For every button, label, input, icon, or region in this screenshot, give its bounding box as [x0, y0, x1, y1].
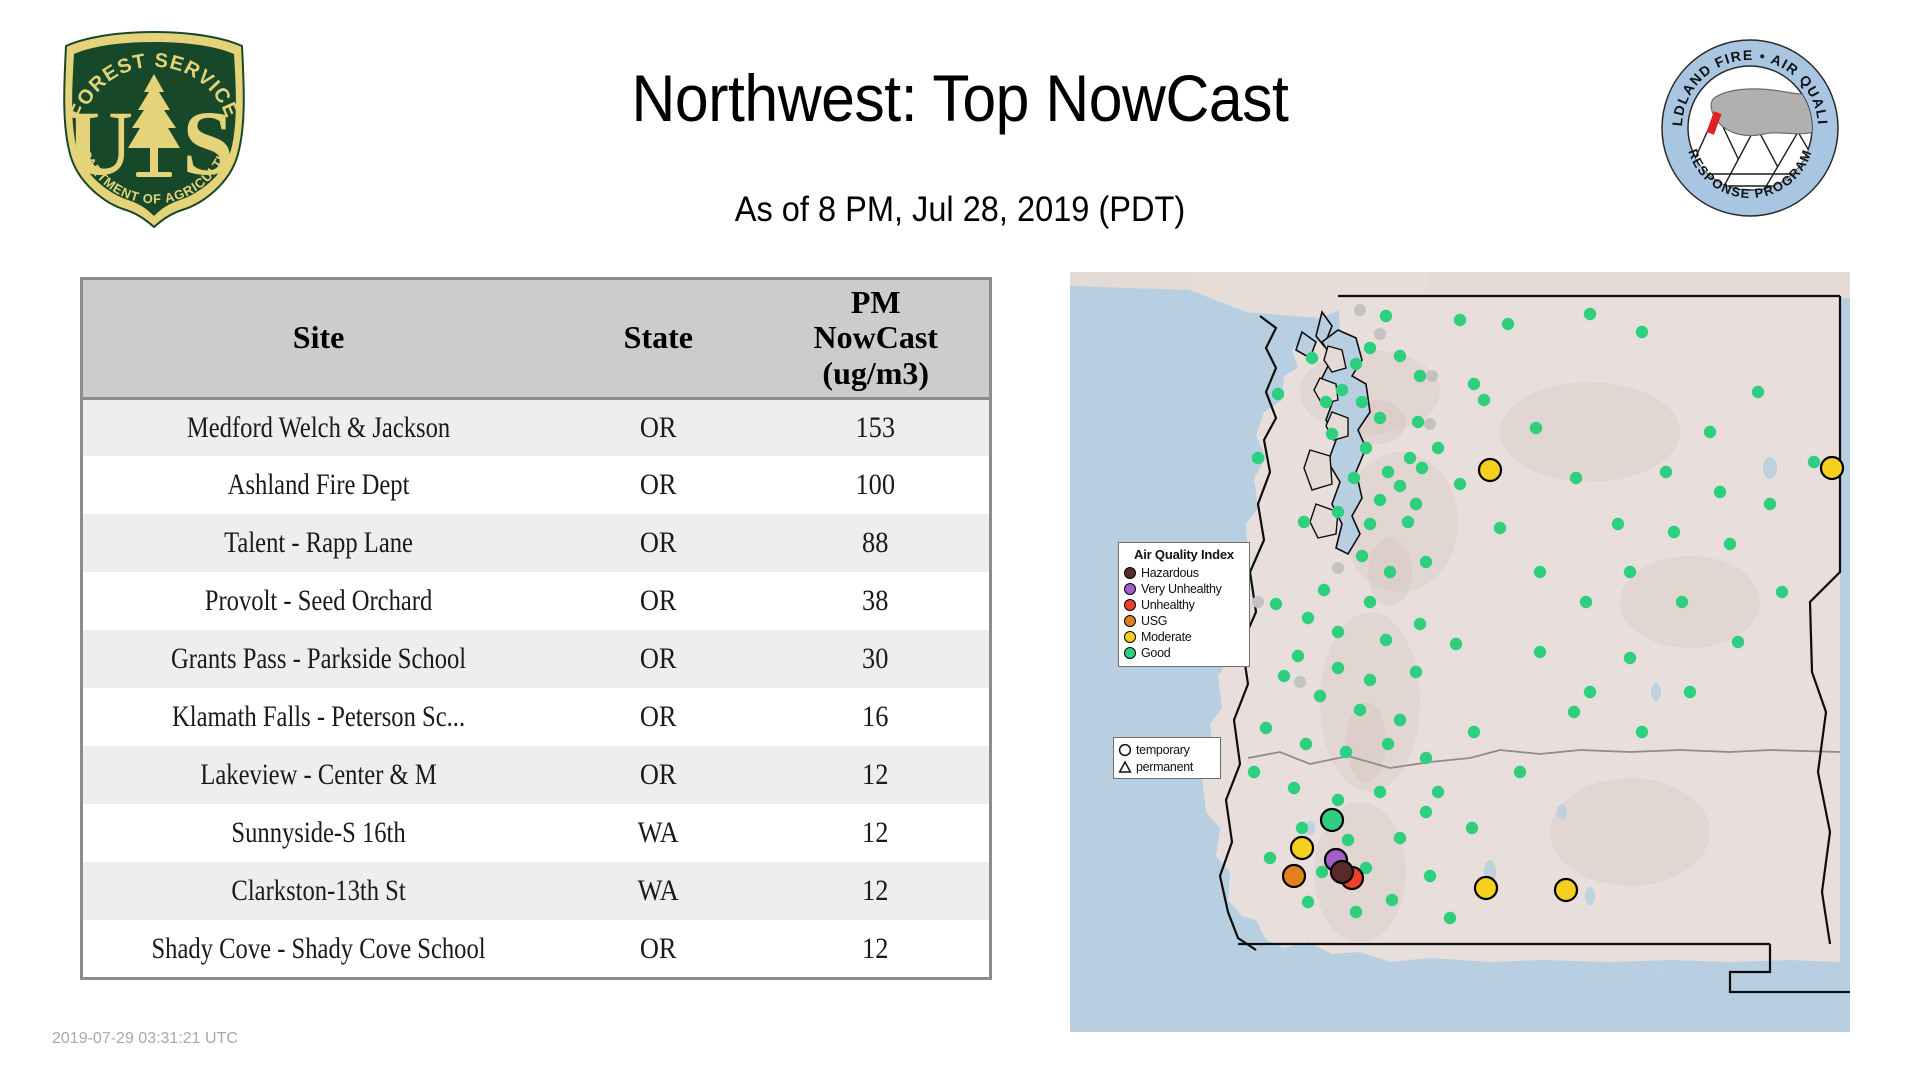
monitor-dot-good[interactable]	[1394, 714, 1406, 726]
aqi-legend-label: USG	[1141, 614, 1167, 628]
monitor-dot-good[interactable]	[1534, 646, 1546, 658]
monitor-dot-good[interactable]	[1714, 486, 1726, 498]
monitor-dot-moderate[interactable]	[1479, 459, 1501, 481]
circle-marker-icon	[1118, 743, 1132, 757]
table-row: Lakeview - Center & MOR12	[83, 746, 989, 804]
table-row: Clarkston-13th StWA12	[83, 862, 989, 920]
monitor-dot-good[interactable]	[1570, 472, 1582, 484]
cell-site: Ashland Fire Dept	[125, 456, 511, 514]
monitor-dot-good[interactable]	[1320, 396, 1332, 408]
monitor-dot-good[interactable]	[1374, 786, 1386, 798]
monitor-dot-offline[interactable]	[1374, 328, 1386, 340]
triangle-marker-icon	[1118, 760, 1132, 774]
table-header-row: Site State PM NowCast (ug/m3)	[83, 280, 989, 398]
cell-state: WA	[567, 862, 750, 920]
pm-header-line-3: (ug/m3)	[762, 356, 989, 392]
monitor-dot-good[interactable]	[1386, 894, 1398, 906]
monitor-dot-good[interactable]	[1534, 566, 1546, 578]
aqi-legend-item: USG	[1124, 613, 1244, 629]
cell-pm-value: 12	[776, 862, 975, 920]
monitor-dot-good[interactable]	[1424, 870, 1436, 882]
monitor-dot-good[interactable]	[1360, 442, 1372, 454]
table-row: Ashland Fire DeptOR100	[83, 456, 989, 514]
monitor-dot-good[interactable]	[1264, 852, 1276, 864]
monitor-dot-offline[interactable]	[1426, 370, 1438, 382]
monitor-dot-good[interactable]	[1332, 506, 1344, 518]
monitor-dot-good[interactable]	[1348, 472, 1360, 484]
monitor-dot-good[interactable]	[1454, 478, 1466, 490]
monitor-type-legend: temporary permanent	[1113, 737, 1221, 779]
aqi-legend-item: Hazardous	[1124, 565, 1244, 581]
column-header-site: Site	[83, 280, 554, 398]
aqi-legend-item: Unhealthy	[1124, 597, 1244, 613]
us-forest-service-logo: FOREST SERVICE U S DEPARTMENT OF AGRICUL…	[52, 28, 257, 228]
cell-pm-value: 153	[776, 398, 975, 456]
monitor-dot-good[interactable]	[1478, 394, 1490, 406]
monitor-dot-good[interactable]	[1502, 318, 1514, 330]
cell-pm-value: 88	[776, 514, 975, 572]
monitor-dot-good[interactable]	[1584, 686, 1596, 698]
monitor-dot-offline[interactable]	[1354, 304, 1366, 316]
page-subtitle: As of 8 PM, Jul 28, 2019 (PDT)	[309, 190, 1611, 230]
aqi-color-swatch-icon	[1124, 647, 1136, 659]
monitor-dot-good[interactable]	[1314, 690, 1326, 702]
cell-pm-value: 12	[776, 920, 975, 978]
monitor-dot-good[interactable]	[1420, 806, 1432, 818]
pm-header-line-2: NowCast	[762, 320, 989, 356]
monitor-dot-good[interactable]	[1380, 310, 1392, 322]
aqi-legend-title: Air Quality Index	[1124, 547, 1244, 562]
monitor-dot-good[interactable]	[1332, 794, 1344, 806]
cell-pm-value: 100	[776, 456, 975, 514]
monitor-dot-good[interactable]	[1384, 566, 1396, 578]
wildland-fire-air-quality-logo: WILDLAND FIRE • AIR QUALITY RESPONSE PRO…	[1660, 38, 1840, 218]
monitor-dot-moderate[interactable]	[1821, 457, 1843, 479]
monitor-dot-good[interactable]	[1402, 516, 1414, 528]
monitor-dot-good[interactable]	[1364, 342, 1376, 354]
cell-state: WA	[567, 804, 750, 862]
monitor-dot-good[interactable]	[1302, 612, 1314, 624]
aqi-color-swatch-icon	[1124, 583, 1136, 595]
monitor-dot-good[interactable]	[1380, 634, 1392, 646]
monitor-dot-good[interactable]	[1382, 738, 1394, 750]
monitor-dot-good[interactable]	[1278, 670, 1290, 682]
monitor-dot-good[interactable]	[1660, 466, 1672, 478]
monitor-dot-good[interactable]	[1568, 706, 1580, 718]
cell-state: OR	[567, 630, 750, 688]
monitor-dot-good[interactable]	[1412, 416, 1424, 428]
monitor-dot-offline[interactable]	[1424, 418, 1436, 430]
monitor-dot-good[interactable]	[1382, 466, 1394, 478]
monitor-dot-good[interactable]	[1414, 618, 1426, 630]
monitor-dot-good[interactable]	[1394, 480, 1406, 492]
aqi-legend-item: Good	[1124, 645, 1244, 661]
table-row: Medford Welch & JacksonOR153	[83, 398, 989, 456]
monitor-dot-good[interactable]	[1300, 738, 1312, 750]
monitor-dot-good[interactable]	[1354, 704, 1366, 716]
table-row: Provolt - Seed OrchardOR38	[83, 572, 989, 630]
monitor-dot-good[interactable]	[1584, 308, 1596, 320]
monitor-dot-good[interactable]	[1288, 782, 1300, 794]
monitor-dot-hazardous[interactable]	[1331, 861, 1353, 883]
monitor-dot-offline[interactable]	[1332, 562, 1344, 574]
cell-state: OR	[567, 572, 750, 630]
monitor-dot-offline[interactable]	[1252, 596, 1264, 608]
monitor-dot-good[interactable]	[1454, 314, 1466, 326]
aqi-legend-label: Unhealthy	[1141, 598, 1195, 612]
monitor-dot-good[interactable]	[1260, 722, 1272, 734]
cell-pm-value: 12	[776, 804, 975, 862]
pm-header-line-1: PM	[762, 285, 989, 321]
cell-pm-value: 30	[776, 630, 975, 688]
cell-state: OR	[567, 688, 750, 746]
monitor-dot-good[interactable]	[1624, 652, 1636, 664]
aqi-legend-item: Moderate	[1124, 629, 1244, 645]
aqi-legend: Air Quality Index HazardousVery Unhealth…	[1118, 542, 1250, 667]
monitor-dot-good[interactable]	[1332, 662, 1344, 674]
monitor-dot-good[interactable]	[1374, 412, 1386, 424]
monitor-dot-good[interactable]	[1636, 326, 1648, 338]
monitor-dot-good[interactable]	[1318, 584, 1330, 596]
table-row: Sunnyside-S 16thWA12	[83, 804, 989, 862]
aqi-legend-label: Good	[1141, 646, 1170, 660]
cell-site: Lakeview - Center & M	[125, 746, 511, 804]
cell-state: OR	[567, 398, 750, 456]
aqi-color-swatch-icon	[1124, 567, 1136, 579]
monitor-dot-good[interactable]	[1676, 596, 1688, 608]
cell-site: Provolt - Seed Orchard	[125, 572, 511, 630]
monitor-dot-good[interactable]	[1416, 462, 1428, 474]
monitor-dot-good[interactable]	[1350, 906, 1362, 918]
column-header-pm-nowcast: PM NowCast (ug/m3)	[762, 280, 989, 398]
cell-site: Grants Pass - Parkside School	[125, 630, 511, 688]
monitor-dot-good[interactable]	[1356, 396, 1368, 408]
monitor-dot-usg[interactable]	[1283, 865, 1305, 887]
generation-timestamp: 2019-07-29 03:31:21 UTC	[52, 1030, 238, 1048]
monitor-dot-good[interactable]	[1732, 636, 1744, 648]
monitor-dot-good[interactable]	[1704, 426, 1716, 438]
aqi-legend-item: Very Unhealthy	[1124, 581, 1244, 597]
monitor-dot-good[interactable]	[1444, 912, 1456, 924]
monitor-dot-good[interactable]	[1321, 809, 1343, 831]
monitor-dot-good[interactable]	[1724, 538, 1736, 550]
monitor-dot-good[interactable]	[1404, 452, 1416, 464]
top-nowcast-table: Site State PM NowCast (ug/m3) Medford We…	[80, 277, 992, 980]
legend-permanent: permanent	[1118, 758, 1216, 775]
monitor-dot-good[interactable]	[1342, 834, 1354, 846]
monitor-dot-good[interactable]	[1298, 516, 1310, 528]
cell-state: OR	[567, 920, 750, 978]
cell-site: Shady Cove - Shady Cove School	[125, 920, 511, 978]
monitor-dot-good[interactable]	[1340, 746, 1352, 758]
monitor-dot-good[interactable]	[1624, 566, 1636, 578]
monitor-dot-good[interactable]	[1364, 596, 1376, 608]
monitor-dot-good[interactable]	[1394, 832, 1406, 844]
cell-site: Sunnyside-S 16th	[125, 804, 511, 862]
aqi-legend-label: Hazardous	[1141, 566, 1199, 580]
monitor-dot-good[interactable]	[1302, 896, 1314, 908]
monitor-dot-good[interactable]	[1296, 822, 1308, 834]
monitor-dot-good[interactable]	[1808, 456, 1820, 468]
monitor-dot-good[interactable]	[1514, 766, 1526, 778]
monitor-dot-good[interactable]	[1326, 428, 1338, 440]
monitor-dot-good[interactable]	[1752, 386, 1764, 398]
monitor-dot-good[interactable]	[1764, 498, 1776, 510]
cell-site: Clarkston-13th St	[125, 862, 511, 920]
cell-state: OR	[567, 514, 750, 572]
monitor-dot-offline[interactable]	[1294, 676, 1306, 688]
monitor-dot-good[interactable]	[1252, 452, 1264, 464]
cell-pm-value: 38	[776, 572, 975, 630]
monitor-dot-good[interactable]	[1336, 384, 1348, 396]
monitor-dot-good[interactable]	[1410, 666, 1422, 678]
monitor-dot-good[interactable]	[1468, 378, 1480, 390]
cell-pm-value: 16	[776, 688, 975, 746]
monitor-dot-good[interactable]	[1248, 766, 1260, 778]
cell-site: Medford Welch & Jackson	[125, 398, 511, 456]
table-row: Talent - Rapp LaneOR88	[83, 514, 989, 572]
cell-state: OR	[567, 456, 750, 514]
aqi-color-swatch-icon	[1124, 615, 1136, 627]
table-body: Medford Welch & JacksonOR153Ashland Fire…	[83, 398, 989, 978]
monitor-dot-good[interactable]	[1350, 358, 1362, 370]
monitor-dot-good[interactable]	[1332, 626, 1344, 638]
monitor-dot-good[interactable]	[1270, 598, 1282, 610]
monitor-dot-good[interactable]	[1776, 586, 1788, 598]
cell-state: OR	[567, 746, 750, 804]
column-header-state: State	[554, 280, 762, 398]
monitor-dot-good[interactable]	[1466, 822, 1478, 834]
monitor-dot-moderate[interactable]	[1555, 879, 1577, 901]
aqi-monitor-map[interactable]: Air Quality Index HazardousVery Unhealth…	[1070, 272, 1850, 1032]
aqi-color-swatch-icon	[1124, 599, 1136, 611]
monitor-dot-good[interactable]	[1306, 352, 1318, 364]
table-row: Grants Pass - Parkside SchoolOR30	[83, 630, 989, 688]
slide-root: FOREST SERVICE U S DEPARTMENT OF AGRICUL…	[0, 0, 1920, 1080]
monitor-dot-good[interactable]	[1450, 638, 1462, 650]
monitor-dot-good[interactable]	[1530, 422, 1542, 434]
monitor-dot-good[interactable]	[1364, 674, 1376, 686]
monitor-dot-good[interactable]	[1356, 550, 1368, 562]
monitor-dot-good[interactable]	[1432, 442, 1444, 454]
cell-site: Klamath Falls - Peterson Sc...	[125, 688, 511, 746]
monitor-dot-good[interactable]	[1374, 494, 1386, 506]
monitor-dot-good[interactable]	[1292, 650, 1304, 662]
monitor-dot-good[interactable]	[1272, 388, 1284, 400]
table-row: Shady Cove - Shady Cove SchoolOR12	[83, 920, 989, 978]
legend-temporary: temporary	[1118, 741, 1216, 758]
monitor-dot-good[interactable]	[1410, 498, 1422, 510]
aqi-color-swatch-icon	[1124, 631, 1136, 643]
cell-site: Talent - Rapp Lane	[125, 514, 511, 572]
monitor-dot-good[interactable]	[1364, 518, 1376, 530]
page-title: Northwest: Top NowCast	[316, 60, 1604, 136]
monitor-dot-good[interactable]	[1414, 370, 1426, 382]
monitor-dot-good[interactable]	[1420, 752, 1432, 764]
monitor-dot-good[interactable]	[1580, 596, 1592, 608]
monitor-dot-good[interactable]	[1612, 518, 1624, 530]
monitor-dot-good[interactable]	[1494, 522, 1506, 534]
monitor-dot-good[interactable]	[1394, 350, 1406, 362]
monitor-dot-good[interactable]	[1668, 526, 1680, 538]
monitor-dot-good[interactable]	[1468, 726, 1480, 738]
monitor-dot-good[interactable]	[1636, 726, 1648, 738]
monitor-dot-good[interactable]	[1432, 786, 1444, 798]
legend-temporary-label: temporary	[1136, 743, 1190, 757]
monitor-dot-moderate[interactable]	[1475, 877, 1497, 899]
aqi-legend-label: Very Unhealthy	[1141, 582, 1222, 596]
table-row: Klamath Falls - Peterson Sc...OR16	[83, 688, 989, 746]
monitor-dot-good[interactable]	[1316, 866, 1328, 878]
aqi-legend-label: Moderate	[1141, 630, 1191, 644]
monitor-dot-good[interactable]	[1684, 686, 1696, 698]
legend-permanent-label: permanent	[1136, 760, 1193, 774]
monitor-dot-moderate[interactable]	[1291, 837, 1313, 859]
monitor-dot-good[interactable]	[1420, 556, 1432, 568]
cell-pm-value: 12	[776, 746, 975, 804]
